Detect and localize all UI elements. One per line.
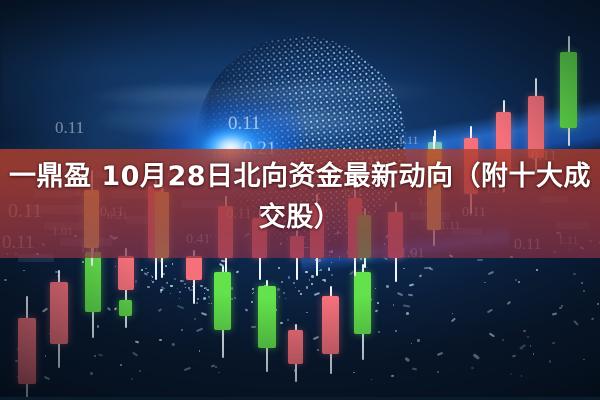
cover-image-canvas: 0.110.110.110.111.011.011.110.210.110.21… [0, 0, 600, 400]
page-title: 一鼎盈 10月28日北向资金最新动向（附十大成交股） [0, 156, 600, 238]
